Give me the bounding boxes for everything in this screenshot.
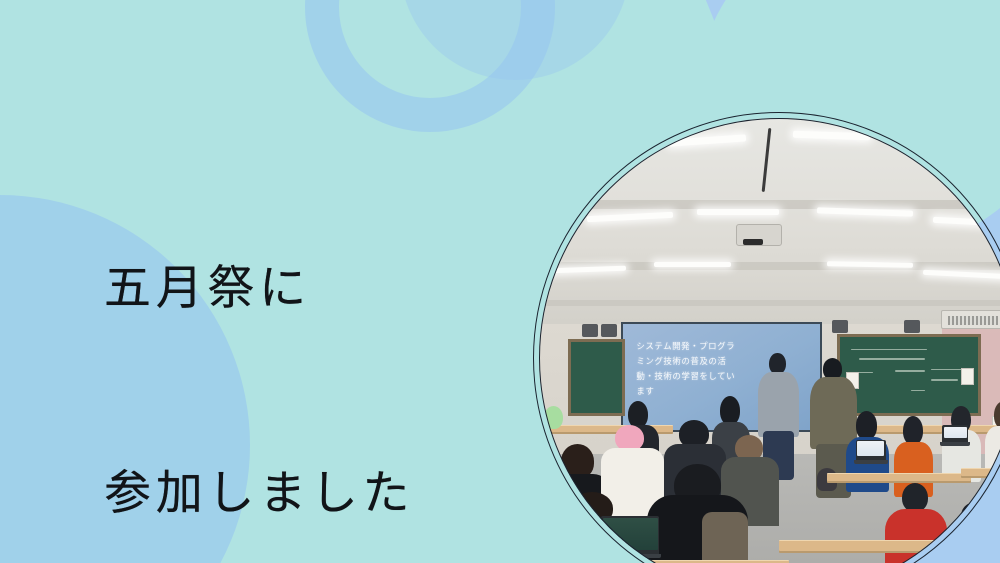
speaker bbox=[832, 320, 848, 333]
ceiling-beam bbox=[539, 300, 1000, 306]
title-line-2: 参加しました bbox=[104, 459, 414, 527]
speaker bbox=[601, 324, 617, 337]
title-line-1: 五月祭に bbox=[104, 254, 414, 322]
photo-scene: システム開発・プログラ ミング技術の普及の活 動・技術の学習をしてい ます bbox=[539, 118, 1000, 563]
backpack bbox=[702, 512, 748, 563]
laptop bbox=[942, 425, 968, 442]
air-conditioner bbox=[941, 310, 1000, 329]
desk bbox=[577, 560, 788, 563]
chalkboard-left bbox=[568, 339, 626, 416]
speaker bbox=[904, 320, 920, 333]
desk bbox=[779, 540, 942, 551]
classroom-photo: システム開発・プログラ ミング技術の普及の活 動・技術の学習をしてい ます bbox=[539, 118, 1000, 563]
laptop bbox=[601, 516, 659, 554]
seated-student bbox=[985, 401, 1000, 473]
balloon bbox=[544, 406, 563, 429]
presentation-slide: 五月祭に 参加しました bbox=[0, 0, 1000, 563]
ceiling-light bbox=[697, 209, 779, 215]
seated-student bbox=[961, 502, 1000, 563]
desk bbox=[827, 473, 971, 481]
ceiling-light bbox=[654, 262, 731, 267]
wall-poster bbox=[961, 368, 974, 385]
projector bbox=[736, 224, 782, 246]
ceiling-beam bbox=[539, 200, 1000, 209]
desk bbox=[961, 468, 1000, 476]
speaker bbox=[582, 324, 598, 337]
laptop bbox=[856, 440, 886, 460]
screen-line-1: システム開発・プログラ bbox=[636, 339, 810, 354]
slide-title: 五月祭に 参加しました bbox=[104, 118, 414, 563]
